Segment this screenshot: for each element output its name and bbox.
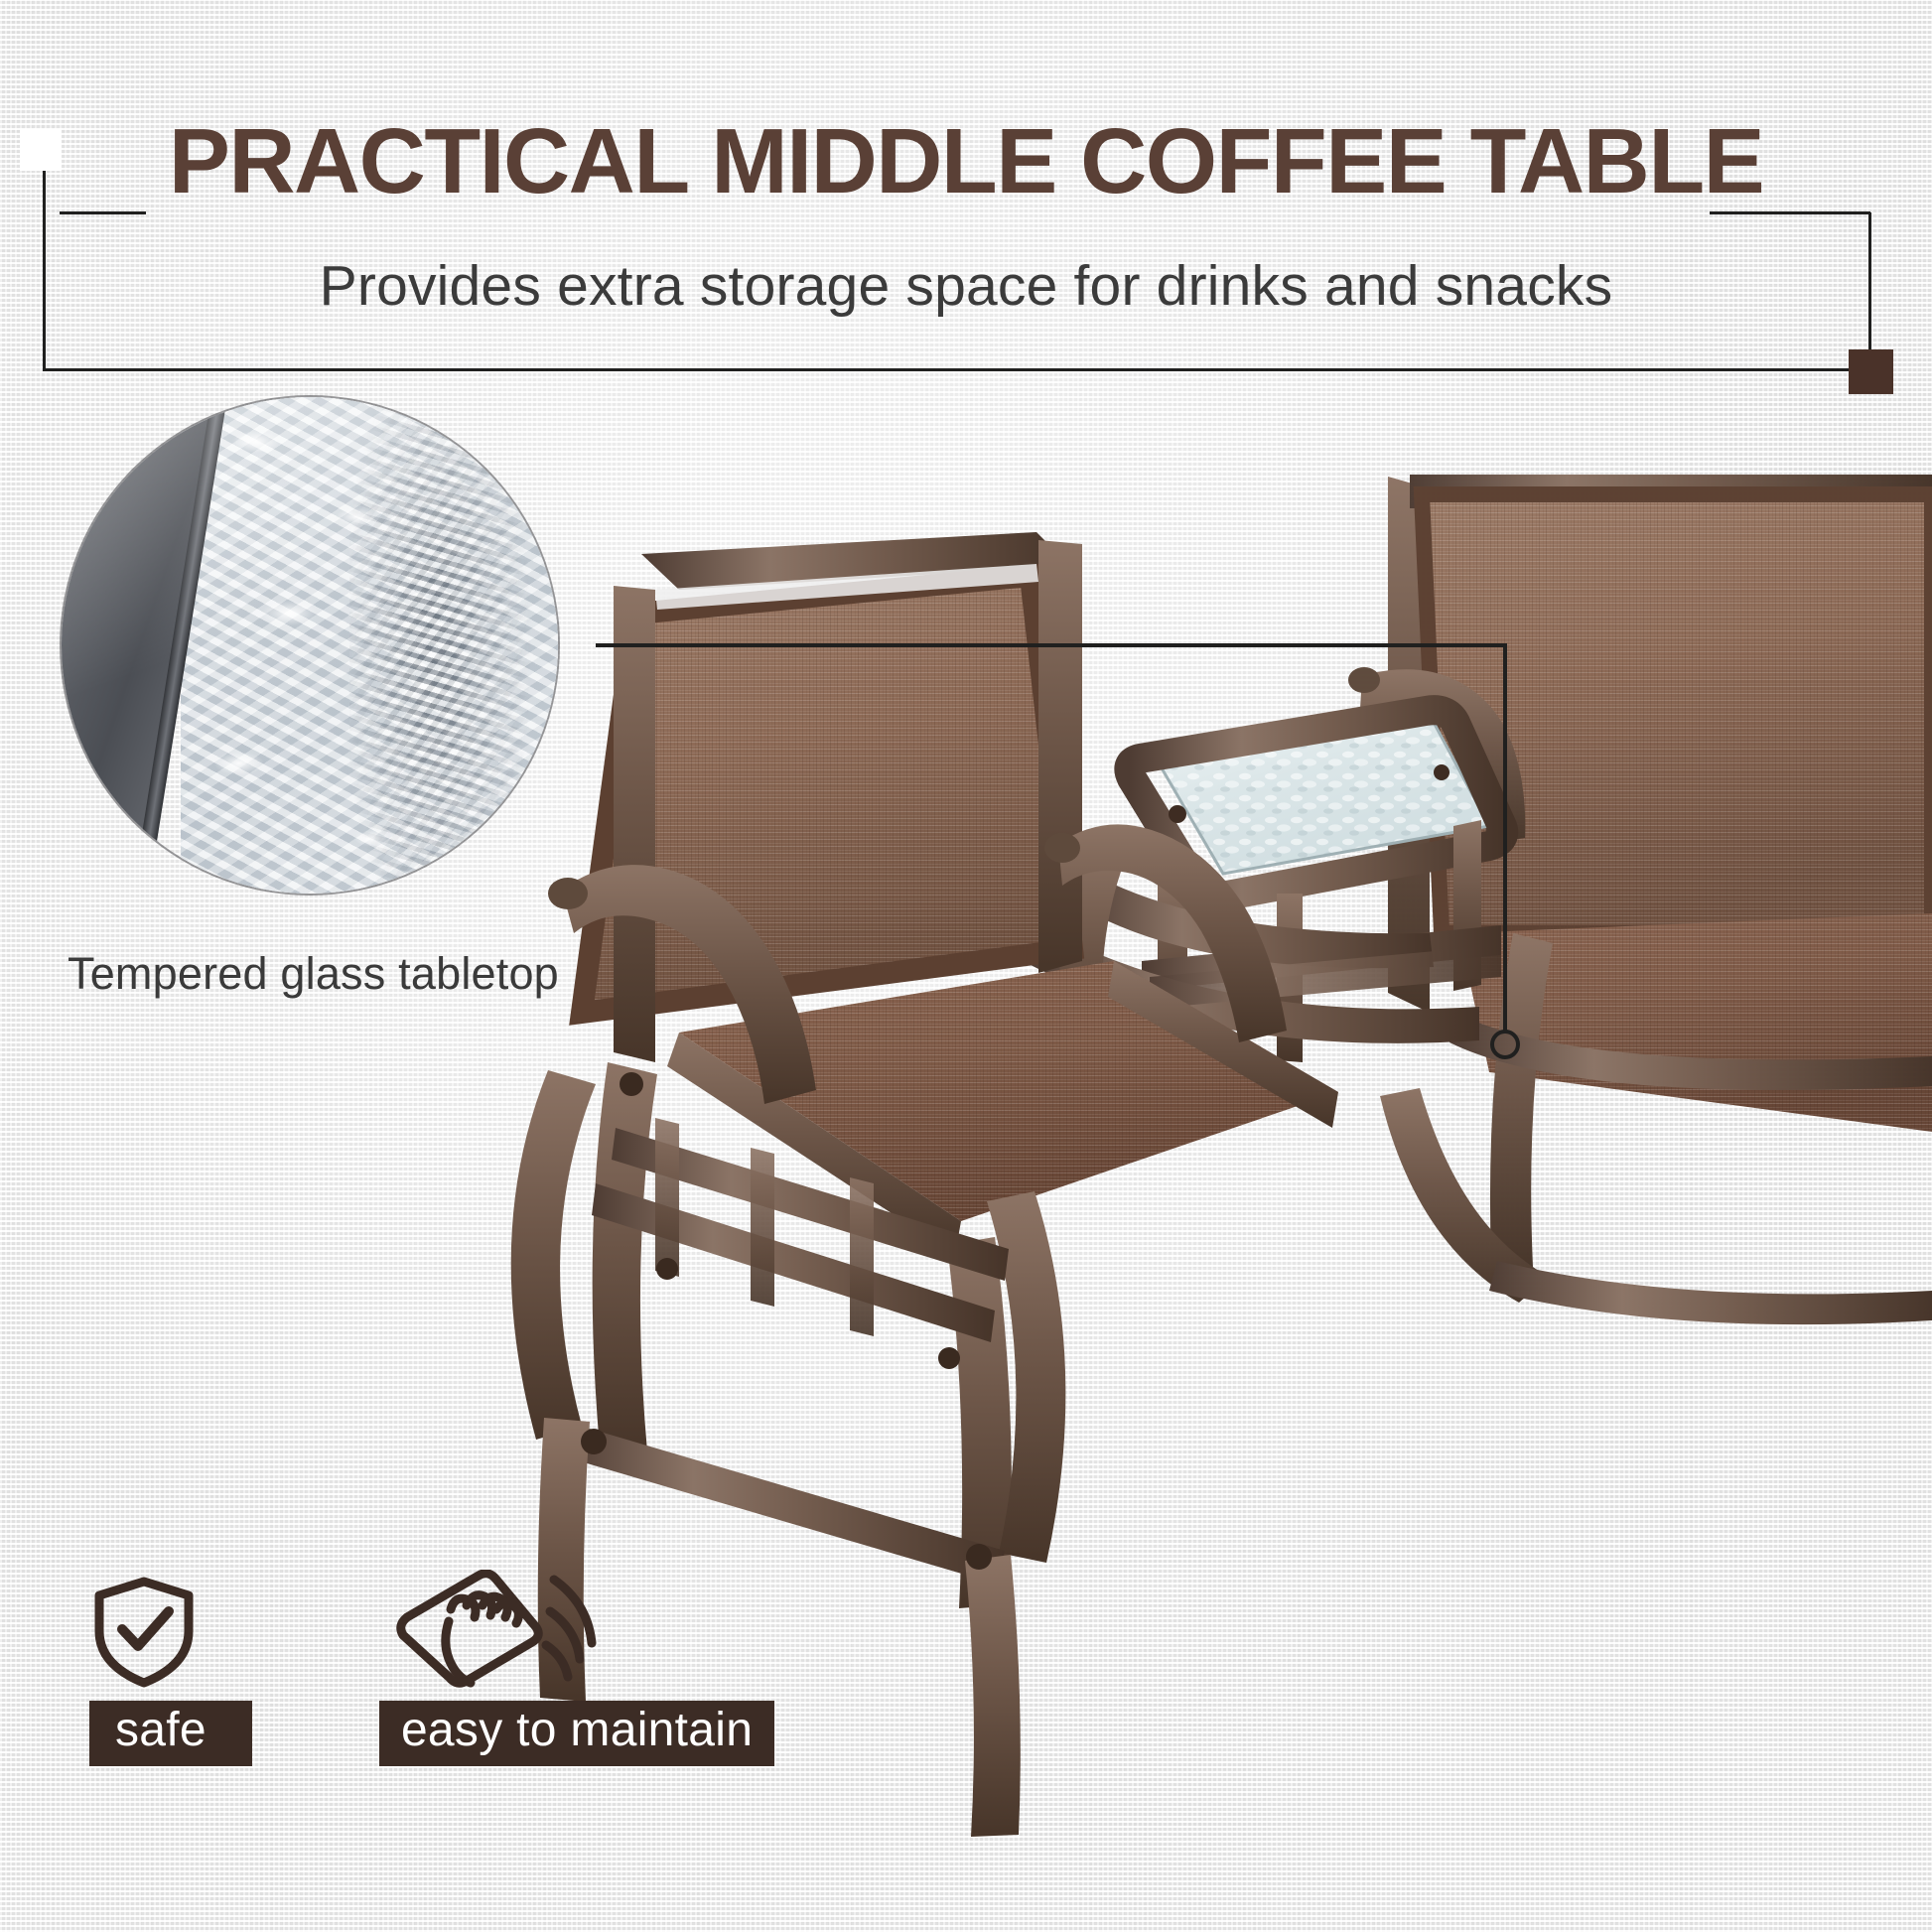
product-photo-stage: Tempered glass tabletop safe (0, 377, 1932, 1932)
hand-wiping-cloth-icon (379, 1574, 647, 1691)
tempered-glass-detail-circle (62, 397, 558, 894)
right-chair (1348, 475, 1932, 1324)
feature-badge-row: safe eas (89, 1574, 774, 1766)
page-title: PRACTICAL MIDDLE COFFEE TABLE (0, 115, 1932, 207)
header-frame: PRACTICAL MIDDLE COFFEE TABLE Provides e… (0, 0, 1932, 417)
glass-sheen-overlay (62, 397, 558, 894)
corner-accent-square-brown (1849, 349, 1893, 394)
badge-easy-to-maintain-label: easy to maintain (379, 1701, 774, 1766)
shield-check-icon (89, 1574, 199, 1691)
page-subtitle: Provides extra storage space for drinks … (0, 258, 1932, 315)
badge-easy-to-maintain: easy to maintain (379, 1574, 774, 1766)
badge-safe: safe (89, 1574, 252, 1766)
frame-rule-top-left (60, 211, 146, 214)
badge-safe-label: safe (89, 1701, 252, 1766)
frame-rule-bottom (43, 368, 1852, 371)
